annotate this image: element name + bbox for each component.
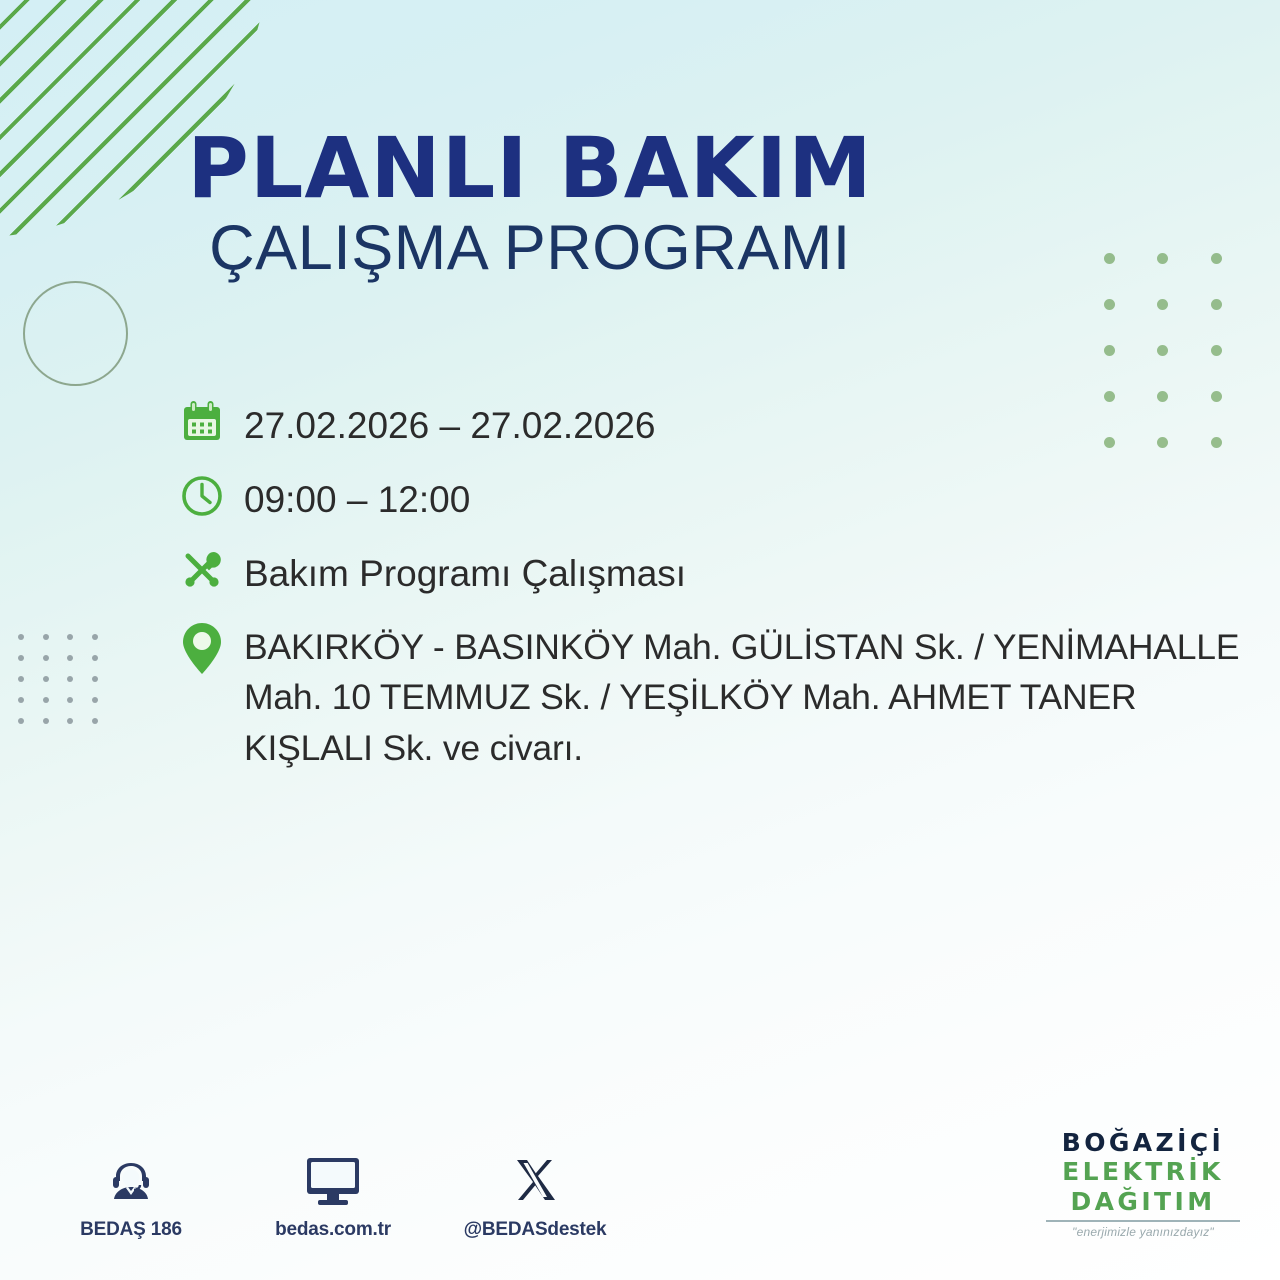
contact-website[interactable]: bedas.com.tr [258, 1148, 408, 1241]
clock-icon [178, 472, 244, 520]
logo-tagline: "enerjimizle yanınızdayız" [1034, 1225, 1252, 1239]
calendar-icon [178, 398, 244, 446]
tools-icon [178, 546, 244, 594]
info-row-work-type: Bakım Programı Çalışması [178, 546, 1268, 594]
logo-line-dagitim: DAĞITIM [1034, 1187, 1252, 1216]
contact-phone[interactable]: BEDAŞ 186 [56, 1148, 206, 1241]
contact-social[interactable]: @BEDASdestek [460, 1148, 610, 1241]
circle-outline-decoration [23, 281, 128, 386]
monitor-icon [258, 1148, 408, 1210]
logo-divider [1046, 1220, 1240, 1222]
info-row-time: 09:00 – 12:00 [178, 472, 1268, 520]
contact-social-label: @BEDASdestek [460, 1219, 610, 1241]
info-row-address: BAKIRKÖY - BASINKÖY Mah. GÜLİSTAN Sk. / … [178, 620, 1268, 773]
bedas-logo: BOĞAZİÇİ ELEKTRİK DAĞITIM "enerjimizle y… [1034, 1128, 1252, 1239]
logo-line-bogazici: BOĞAZİÇİ [1034, 1128, 1252, 1157]
location-pin-icon [178, 620, 244, 678]
contact-website-label: bedas.com.tr [258, 1219, 408, 1241]
footer-contacts: BEDAŞ 186 bedas.com.tr @BEDASdestek [56, 1148, 610, 1241]
x-social-icon [460, 1148, 610, 1210]
work-type-text: Bakım Programı Çalışması [244, 546, 686, 592]
info-row-date: 27.02.2026 – 27.02.2026 [178, 398, 1268, 446]
info-list: 27.02.2026 – 27.02.2026 09:00 – 12:00 Ba… [178, 398, 1268, 800]
logo-line-elektrik: ELEKTRİK [1034, 1157, 1252, 1186]
contact-phone-label: BEDAŞ 186 [56, 1219, 206, 1241]
address-text: BAKIRKÖY - BASINKÖY Mah. GÜLİSTAN Sk. / … [244, 620, 1254, 773]
page-subtitle: ÇALIŞMA PROGRAMI [0, 215, 1060, 281]
page-header: PLANLI BAKIM ÇALIŞMA PROGRAMI [0, 128, 1060, 281]
time-range-text: 09:00 – 12:00 [244, 472, 470, 518]
dot-grid-left-decoration [18, 634, 116, 739]
headset-support-icon [56, 1148, 206, 1210]
page-title: PLANLI BAKIM [0, 128, 1060, 209]
date-range-text: 27.02.2026 – 27.02.2026 [244, 398, 656, 444]
